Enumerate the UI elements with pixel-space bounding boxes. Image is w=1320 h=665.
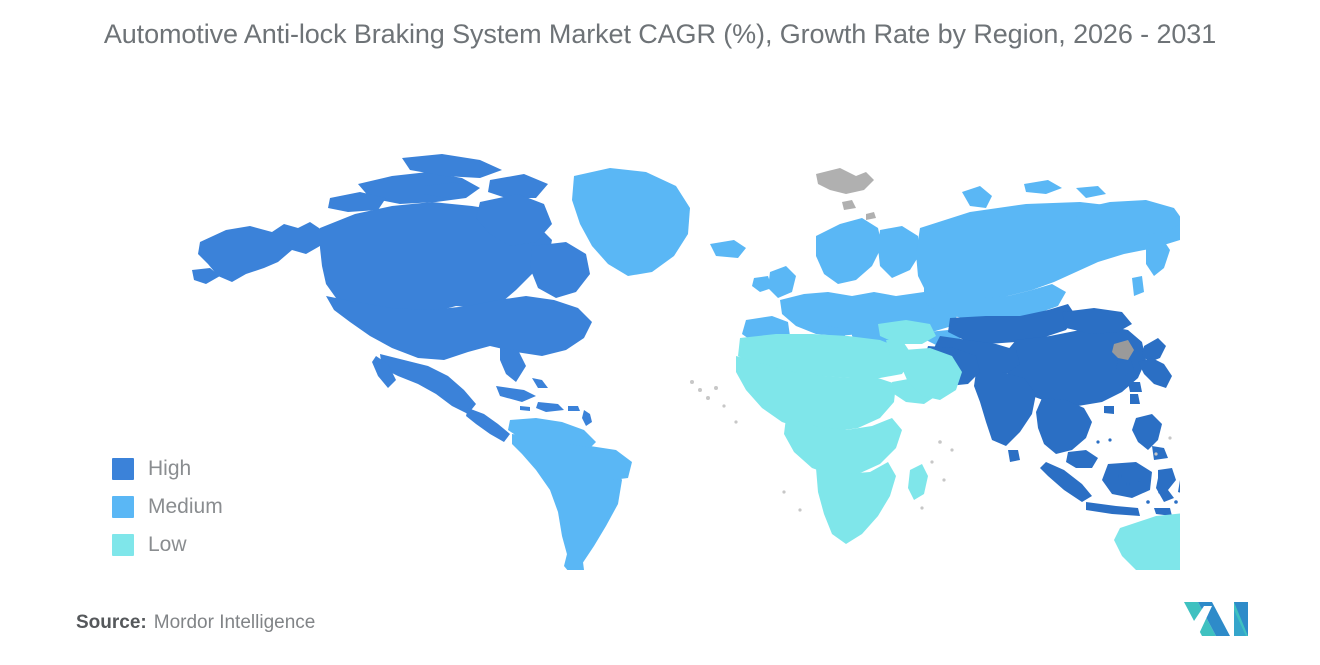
region-japan-kyushu	[1128, 382, 1142, 392]
region-philippines-2	[1152, 446, 1168, 460]
region-novaya-zemlya	[962, 186, 992, 208]
region-arctic-isl2	[1076, 186, 1106, 198]
region-sulawesi	[1156, 468, 1176, 502]
chart-title: Automotive Anti-lock Braking System Mark…	[50, 14, 1270, 54]
region-japan	[1142, 338, 1166, 362]
legend-label-low: Low	[148, 534, 187, 556]
region-alaska	[198, 222, 322, 282]
legend-label-high: High	[148, 458, 191, 480]
region-svalbard-2	[842, 200, 856, 210]
region-arctic-isl	[1024, 180, 1062, 194]
region-southern-africa	[816, 462, 896, 544]
region-sea-mainland	[1036, 398, 1092, 454]
region-borneo	[1102, 462, 1152, 498]
region-central-america	[466, 408, 510, 442]
region-hispaniola	[536, 402, 564, 412]
region-papua	[1178, 480, 1180, 506]
region-bahamas	[532, 378, 548, 388]
region-mexico	[380, 354, 476, 414]
region-taiwan	[1130, 394, 1140, 404]
mordor-intelligence-logo[interactable]	[1182, 598, 1262, 640]
region-java	[1086, 502, 1140, 516]
logo-mark-icon	[1182, 598, 1262, 640]
legend-swatch-high	[112, 458, 134, 480]
legend-item-medium[interactable]: Medium	[112, 488, 332, 526]
region-japan-main	[1138, 358, 1172, 388]
region-usa-florida	[500, 348, 526, 382]
region-sakhalin	[1132, 276, 1144, 296]
region-malaysia	[1066, 450, 1098, 468]
source-value: Mordor Intelligence	[154, 612, 316, 633]
map-legend: High Medium Low	[112, 450, 332, 564]
region-philippines	[1132, 414, 1162, 450]
region-uk	[768, 266, 796, 298]
region-jamaica	[520, 406, 530, 411]
region-pr	[568, 406, 580, 411]
legend-swatch-low	[112, 534, 134, 556]
region-australia	[1114, 512, 1180, 570]
region-iceland	[710, 240, 746, 258]
region-hainan	[1104, 406, 1114, 414]
legend-label-medium: Medium	[148, 496, 223, 518]
legend-swatch-medium	[112, 496, 134, 518]
region-labrador	[530, 242, 590, 298]
region-india	[974, 372, 1036, 446]
source-label: Source:	[76, 612, 147, 633]
market-map-figure: Automotive Anti-lock Braking System Mark…	[0, 0, 1320, 665]
region-cuba	[496, 386, 536, 402]
region-svalbard-3	[866, 212, 876, 220]
region-antilles	[582, 410, 592, 426]
legend-item-low[interactable]: Low	[112, 526, 332, 564]
region-svalbard	[816, 168, 874, 194]
legend-item-high[interactable]: High	[112, 450, 332, 488]
region-greenland	[572, 168, 690, 276]
region-sri-lanka	[1008, 450, 1020, 462]
region-ireland	[752, 276, 772, 292]
map-regions	[192, 154, 1180, 570]
source-line: Source:Mordor Intelligence	[76, 612, 315, 634]
region-madagascar	[908, 464, 928, 500]
region-finland-baltics	[878, 226, 920, 278]
region-scandinavia	[816, 218, 882, 284]
